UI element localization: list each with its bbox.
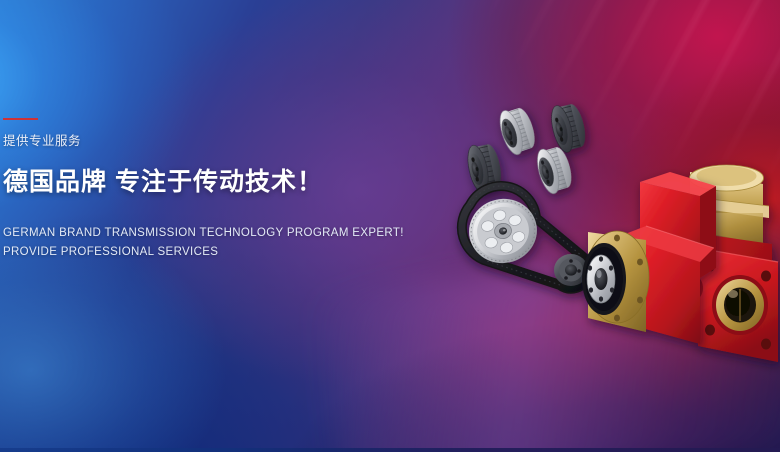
right-angle-gearbox-front: [582, 172, 716, 344]
headline-text: 德国品牌 专注于传动技术！: [3, 168, 423, 197]
subcopy-block: GERMAN BRAND TRANSMISSION TECHNOLOGY PRO…: [3, 224, 423, 262]
timing-pulley-dark-upper-right: [548, 100, 590, 154]
bottom-edge-strip: [0, 448, 780, 452]
gearbox-front-output-flange: [582, 231, 649, 332]
timing-belt-drive-assembly: [462, 186, 589, 289]
eyebrow-text: 提供专业服务: [3, 135, 423, 148]
subcopy-line-2: PROVIDE PROFESSIONAL SERVICES: [3, 243, 423, 262]
banner-copy: 提供专业服务 德国品牌 专注于传动技术！ GERMAN BRAND TRANSM…: [3, 118, 423, 262]
subcopy-line-1: GERMAN BRAND TRANSMISSION TECHNOLOGY PRO…: [3, 224, 423, 243]
promo-banner: 提供专业服务 德国品牌 专注于传动技术！ GERMAN BRAND TRANSM…: [0, 0, 780, 452]
timing-pulley-silver-upper-left: [496, 104, 540, 157]
accent-rule: [3, 118, 38, 120]
